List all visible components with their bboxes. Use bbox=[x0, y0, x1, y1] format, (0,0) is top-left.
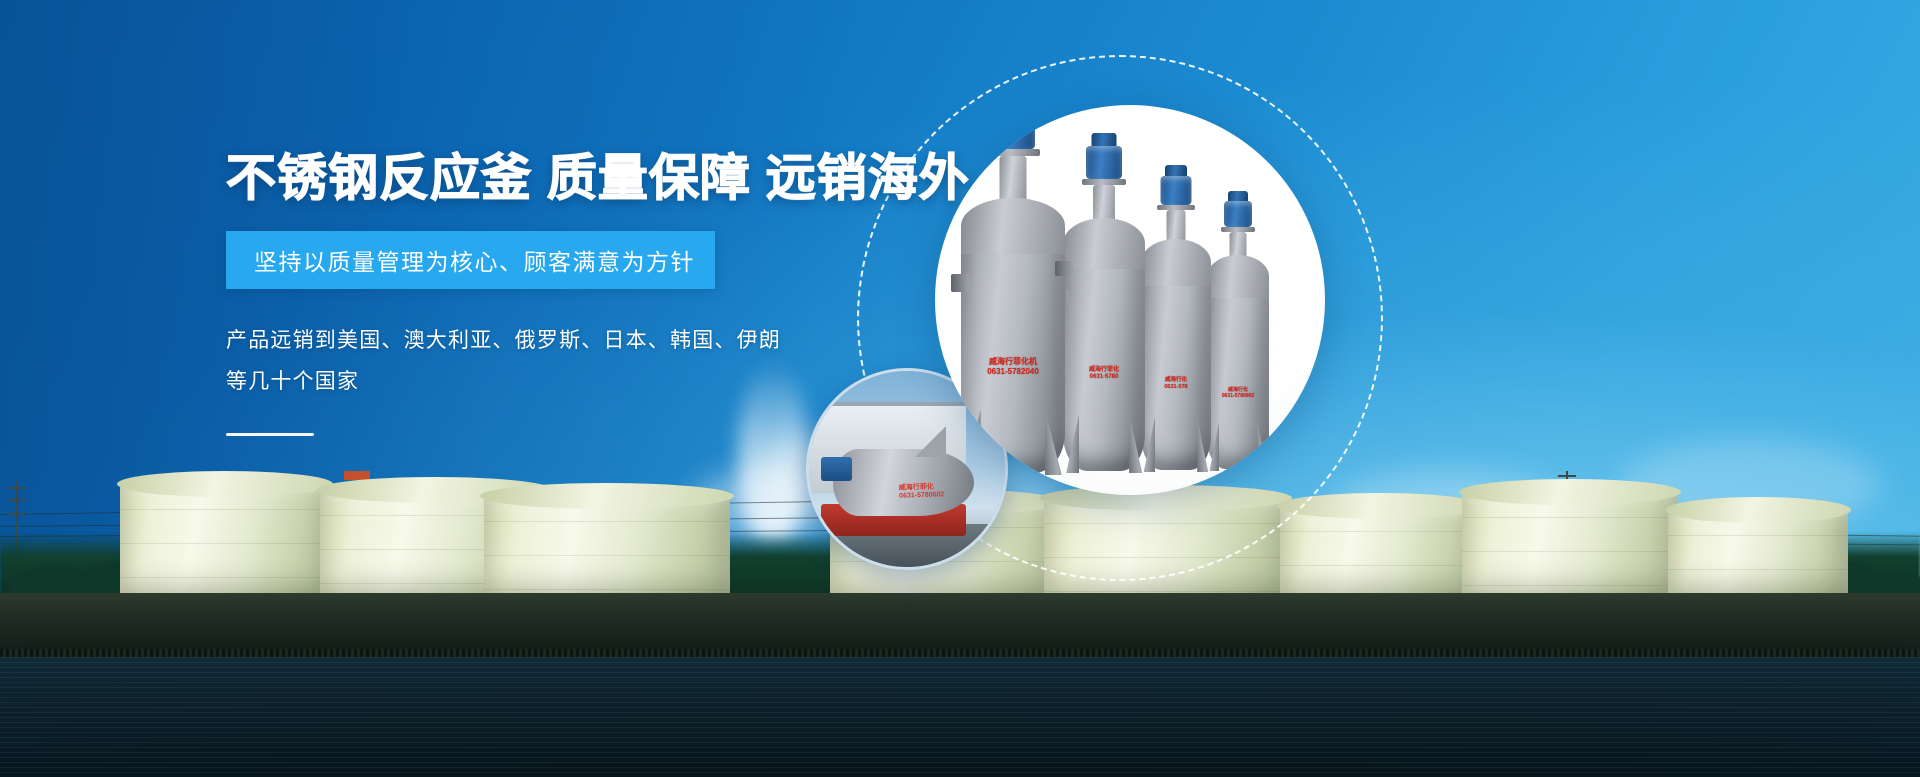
decorative-divider bbox=[226, 433, 314, 436]
vessel-decal: 威海行菲化 0631-5780 bbox=[1089, 367, 1119, 382]
hero-banner: 威海行菲化 0631-5780602 威海行化 0631-5780602 bbox=[0, 0, 1920, 777]
reactor-vessel: 威海行化 0631-5780602 bbox=[1207, 265, 1269, 461]
reactor-vessel: 威海行菲化 0631-5780 bbox=[1063, 229, 1145, 461]
vessel-decal: 威海行化 0631-5780602 bbox=[1222, 387, 1254, 400]
reactor-vessel: 威海行化 0631-578 bbox=[1141, 249, 1211, 461]
banner-highlight-bar: 坚持以质量管理为核心、顾客满意为方针 bbox=[226, 231, 715, 289]
vessel-decal: 威海行菲化机 0631-5782040 bbox=[987, 357, 1039, 377]
product-photo-circle: 威海行化 0631-5780602 威海行化 0631-578 bbox=[935, 105, 1325, 495]
banner-body-copy: 产品远销到美国、澳大利亚、俄罗斯、日本、韩国、伊朗 等几十个国家 bbox=[226, 321, 946, 403]
vessel-decal: 威海行化 0631-578 bbox=[1164, 377, 1187, 391]
body-line-2: 等几十个国家 bbox=[226, 362, 946, 403]
body-line-1: 产品远销到美国、澳大利亚、俄罗斯、日本、韩国、伊朗 bbox=[226, 321, 946, 362]
secondary-photo-decal: 威海行菲化 0631-5780602 bbox=[899, 483, 945, 501]
banner-copy-block: 不锈钢反应釜 质量保障 远销海外 坚持以质量管理为核心、顾客满意为方针 产品远销… bbox=[226, 152, 946, 436]
reactor-vessel: 威海行菲化机 0631-5782040 bbox=[961, 209, 1065, 461]
banner-headline: 不锈钢反应釜 质量保障 远销海外 bbox=[226, 152, 946, 205]
